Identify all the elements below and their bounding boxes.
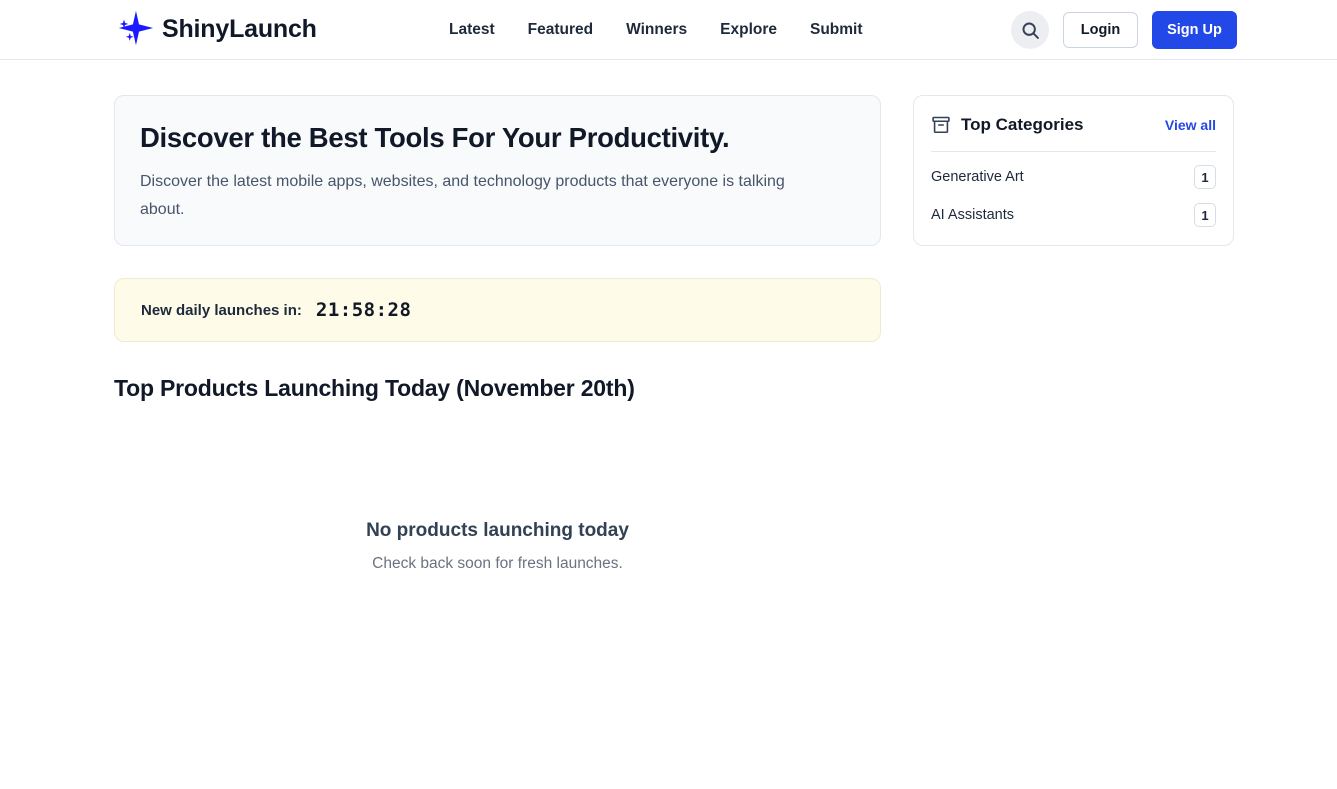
- category-count-badge: 1: [1194, 165, 1216, 189]
- top-categories-header: Top Categories View all: [931, 112, 1216, 138]
- list-item[interactable]: Generative Art 1: [931, 158, 1216, 196]
- category-list: Generative Art 1 AI Assistants 1: [931, 158, 1216, 234]
- hero-banner: Discover the Best Tools For Your Product…: [114, 95, 881, 246]
- empty-state: No products launching today Check back s…: [114, 520, 881, 573]
- search-icon: [1020, 20, 1041, 41]
- category-name: Generative Art: [931, 169, 1024, 185]
- archive-box-icon: [931, 115, 951, 135]
- brand-name: ShinyLaunch: [162, 15, 317, 44]
- signup-button[interactable]: Sign Up: [1152, 11, 1237, 49]
- nav-link-featured[interactable]: Featured: [528, 21, 593, 39]
- empty-state-subtitle: Check back soon for fresh launches.: [114, 555, 881, 573]
- brand-logo[interactable]: ShinyLaunch: [114, 8, 317, 50]
- top-categories-title: Top Categories: [961, 115, 1083, 135]
- hero-subtitle: Discover the latest mobile apps, website…: [140, 168, 830, 224]
- empty-state-title: No products launching today: [114, 520, 881, 542]
- countdown-label: New daily launches in:: [141, 302, 302, 319]
- view-all-link[interactable]: View all: [1165, 117, 1216, 133]
- countdown-timer: 21:58:28: [316, 299, 412, 321]
- search-button[interactable]: [1011, 11, 1049, 49]
- page-body: Discover the Best Tools For Your Product…: [0, 60, 1337, 789]
- top-categories-card: Top Categories View all Generative Art 1…: [913, 95, 1234, 246]
- countdown-banner: New daily launches in: 21:58:28: [114, 278, 881, 342]
- divider: [931, 151, 1216, 152]
- header-actions: Login Sign Up: [1011, 0, 1237, 60]
- hero-title: Discover the Best Tools For Your Product…: [140, 121, 855, 154]
- category-count-badge: 1: [1194, 203, 1216, 227]
- sparkle-star-icon: [114, 8, 156, 50]
- nav-link-latest[interactable]: Latest: [449, 21, 495, 39]
- nav-link-explore[interactable]: Explore: [720, 21, 777, 39]
- nav-link-submit[interactable]: Submit: [810, 21, 863, 39]
- page-title: Top Products Launching Today (November 2…: [114, 375, 635, 402]
- category-name: AI Assistants: [931, 207, 1014, 223]
- nav-link-winners[interactable]: Winners: [626, 21, 687, 39]
- main-nav: Latest Featured Winners Explore Submit: [449, 0, 863, 60]
- list-item[interactable]: AI Assistants 1: [931, 196, 1216, 234]
- login-button[interactable]: Login: [1063, 12, 1138, 48]
- site-header: ShinyLaunch Latest Featured Winners Expl…: [0, 0, 1337, 60]
